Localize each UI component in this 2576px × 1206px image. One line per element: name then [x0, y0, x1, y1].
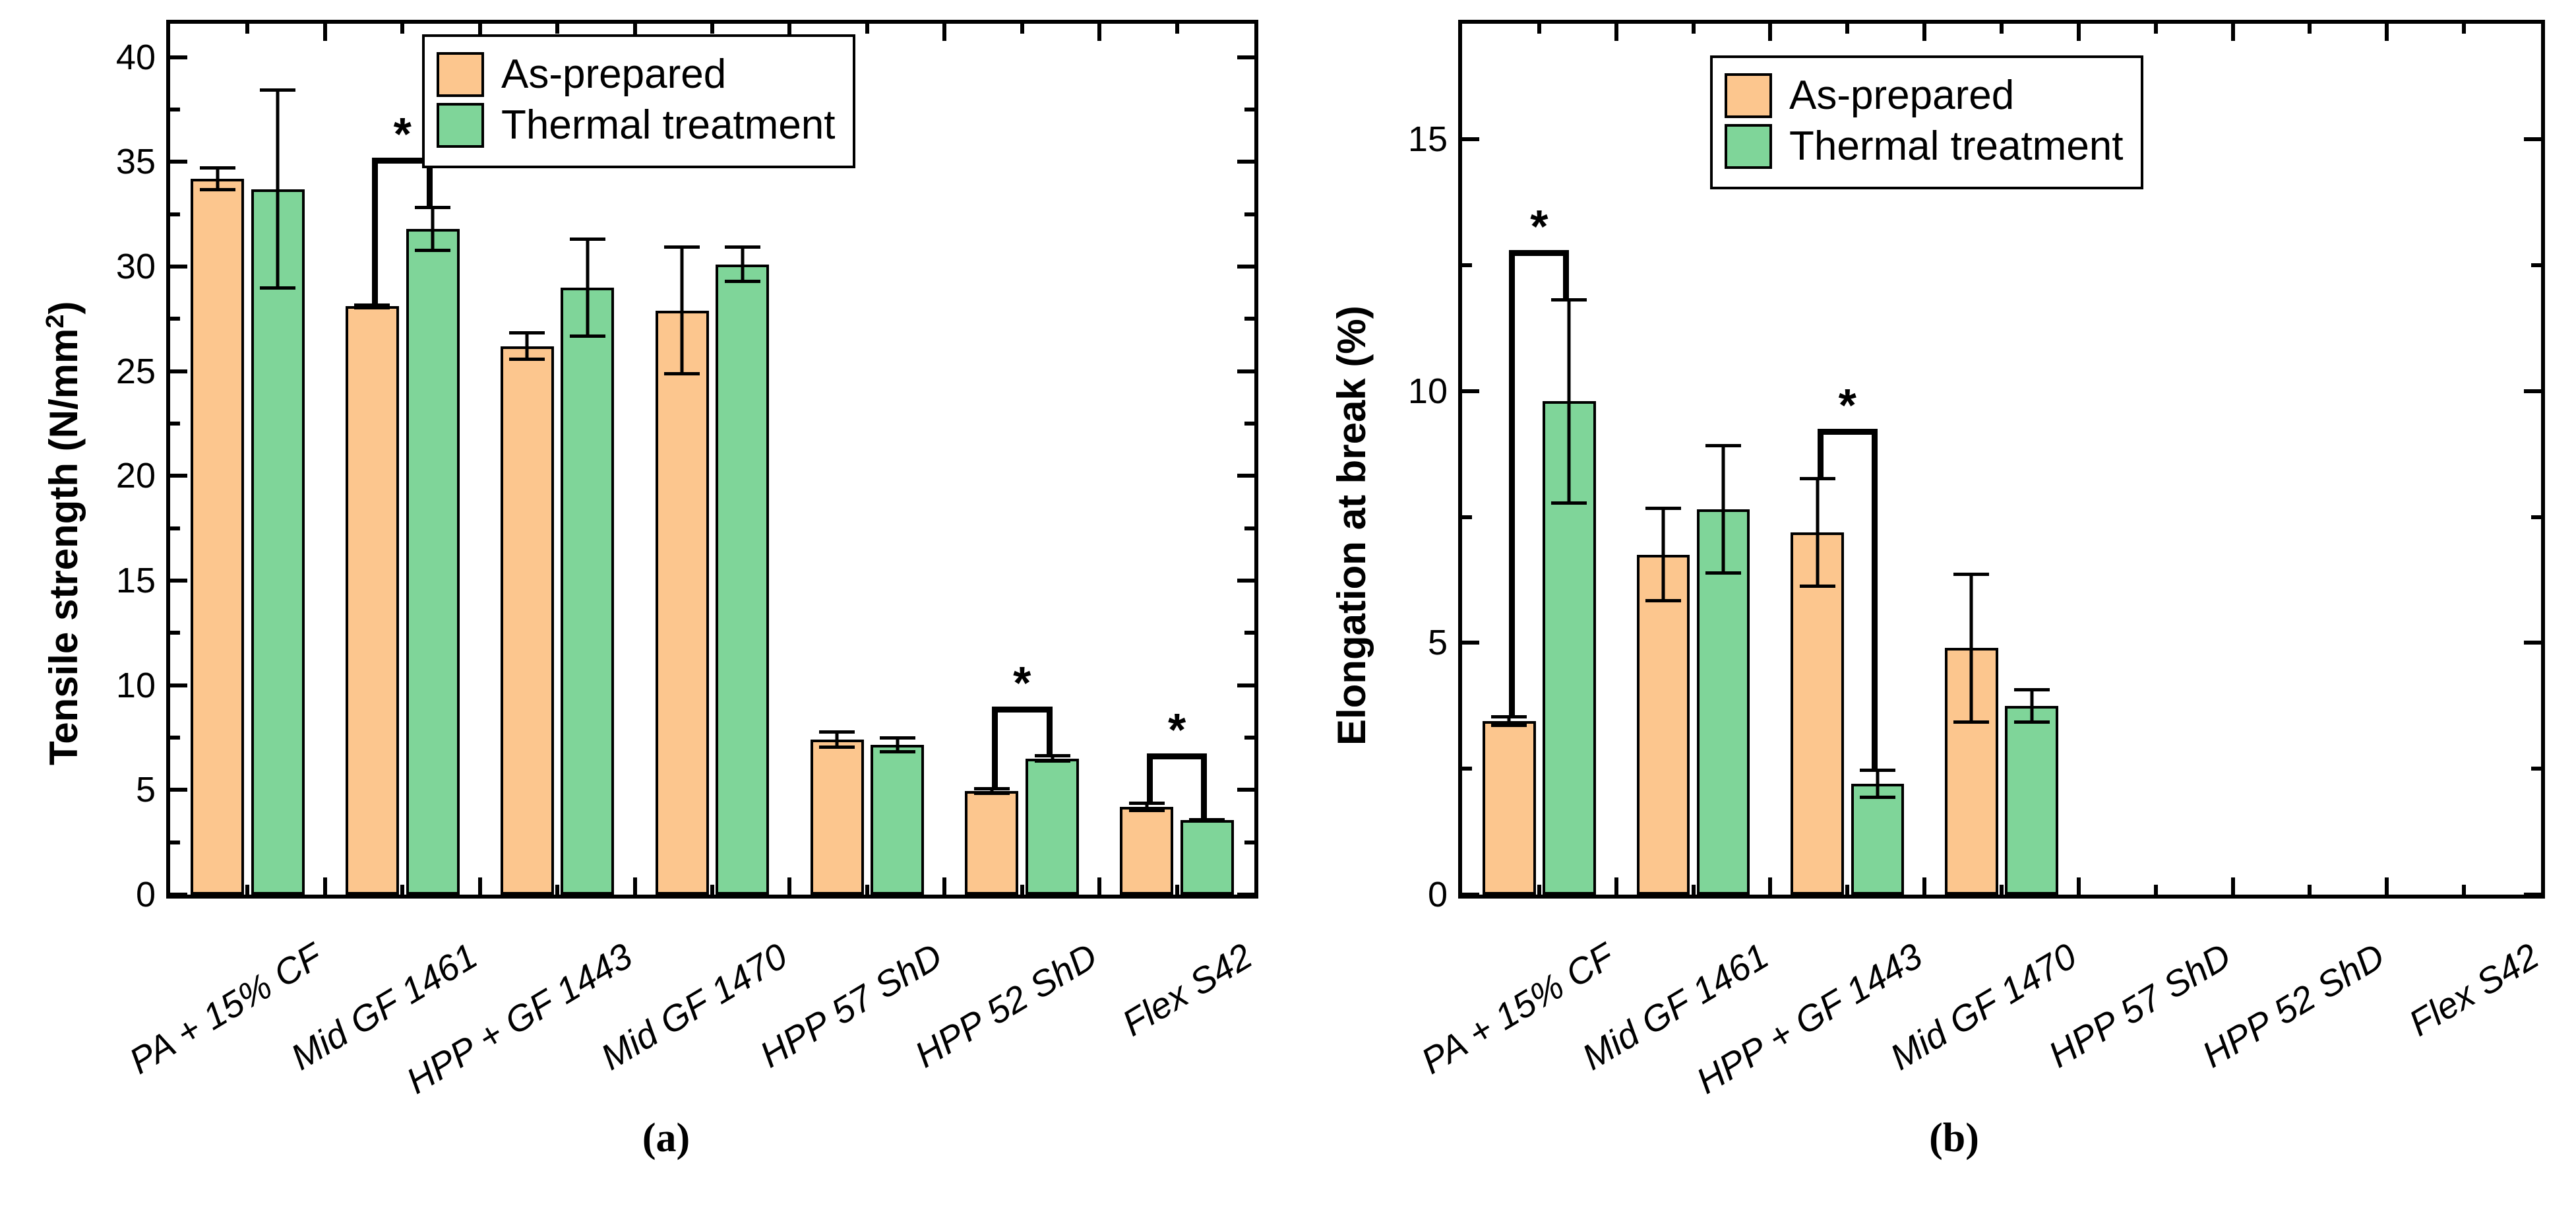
legend-item-as-prepared: As-prepared — [437, 52, 836, 97]
x-minor-tick-top — [1020, 24, 1024, 34]
bar-as-prepared — [1637, 555, 1690, 895]
x-minor-tick-bottom — [2308, 885, 2312, 895]
error-bar-stem — [681, 245, 684, 375]
significance-star: * — [1839, 387, 1856, 424]
y-tick-label: 0 — [77, 874, 156, 915]
x-minor-tick-top — [2000, 24, 2004, 34]
panel-b: Elongation at break (%) ** (b) As-prepar… — [1288, 0, 2576, 1206]
x-major-tick-top — [2385, 24, 2389, 41]
x-major-tick-bottom — [2231, 877, 2235, 895]
significance-bracket-right-leg — [1872, 429, 1878, 769]
y-tick-label: 40 — [77, 37, 156, 78]
y-major-tick-right — [1237, 683, 1254, 687]
x-category-label: Mid GF 1470 — [1802, 935, 2083, 1127]
y-tick-label: 25 — [77, 351, 156, 392]
error-bar — [1945, 573, 1998, 724]
y-major-tick-right — [1237, 265, 1254, 269]
y-minor-tick — [170, 631, 180, 635]
y-major-tick — [1462, 641, 1479, 645]
x-major-tick-bottom — [323, 877, 327, 895]
y-major-tick-right — [1237, 160, 1254, 164]
y-major-tick — [1462, 893, 1479, 897]
y-tick-label: 15 — [77, 560, 156, 601]
legend-a: As-prepared Thermal treatment — [422, 34, 855, 168]
error-bar-stem — [1722, 444, 1725, 575]
x-category-label: Mid GF 1470 — [512, 935, 794, 1127]
error-bar-cap-upper — [819, 730, 855, 734]
significance-bracket-right-leg — [1047, 707, 1053, 755]
x-minor-tick-top — [1845, 24, 1849, 34]
error-bar-cap-upper — [725, 245, 760, 249]
y-minor-tick — [170, 526, 180, 530]
panel-caption-b: (b) — [1855, 1115, 2053, 1162]
significance-bracket-right-leg — [1201, 753, 1207, 818]
error-bar-cap-lower — [260, 286, 295, 290]
error-bar-cap-upper — [974, 787, 1010, 790]
significance-star: * — [1168, 711, 1186, 748]
x-minor-tick-bottom — [1175, 885, 1179, 895]
x-major-tick-top — [942, 24, 946, 41]
y-minor-tick-right — [2531, 515, 2541, 519]
error-bar-cap-lower — [1705, 571, 1741, 575]
y-minor-tick-right — [2531, 767, 2541, 771]
x-major-tick-bottom — [2077, 877, 2081, 895]
error-bar-stem — [741, 245, 744, 283]
x-minor-tick-bottom — [2462, 885, 2466, 895]
error-bar-cap-lower — [974, 792, 1010, 795]
error-bar-cap-lower — [1645, 599, 1681, 602]
y-major-tick-right — [1237, 369, 1254, 373]
bar-thermal-treatment — [716, 265, 769, 895]
error-bar-stem — [586, 238, 589, 338]
error-bar-cap-upper — [1645, 507, 1681, 510]
error-bar — [871, 736, 924, 753]
error-bar — [656, 245, 708, 375]
bar-as-prepared — [656, 311, 709, 895]
error-bar-cap-lower — [1953, 720, 1989, 724]
bar-thermal-treatment — [251, 189, 305, 895]
error-bar-cap-upper — [2014, 688, 2050, 691]
x-minor-tick-bottom — [1845, 885, 1849, 895]
error-bar-stem — [276, 88, 280, 290]
y-tick-label: 5 — [77, 769, 156, 810]
y-minor-tick-right — [2531, 263, 2541, 267]
legend-label-as-prepared: As-prepared — [501, 54, 726, 95]
significance-star: * — [1013, 664, 1031, 701]
y-major-tick-right — [1237, 474, 1254, 478]
error-bar-cap-upper — [570, 238, 605, 241]
bar-thermal-treatment — [1851, 784, 1905, 895]
y-tick-label: 5 — [1368, 622, 1448, 663]
legend-label-thermal-treatment: Thermal treatment — [501, 105, 836, 146]
legend-item-thermal-treatment: Thermal treatment — [437, 103, 836, 148]
legend-swatch-as-prepared — [437, 52, 484, 97]
y-major-tick — [170, 893, 187, 897]
x-major-tick-bottom — [1768, 877, 1772, 895]
y-major-tick — [170, 55, 187, 59]
x-category-label: HPP 52 ShD — [822, 935, 1104, 1127]
x-category-label: Flex S42 — [2264, 935, 2546, 1127]
y-minor-tick-right — [1244, 526, 1254, 530]
x-minor-tick-bottom — [2154, 885, 2158, 895]
x-minor-tick-bottom — [400, 885, 404, 895]
x-major-tick-bottom — [1922, 877, 1926, 895]
error-bar-stem — [2030, 688, 2033, 723]
x-minor-tick-bottom — [2000, 885, 2004, 895]
x-minor-tick-bottom — [245, 885, 249, 895]
x-category-label: HPP 57 ShD — [1956, 935, 2238, 1127]
legend-swatch-thermal-treatment — [437, 103, 484, 148]
legend-label-thermal-treatment: Thermal treatment — [1789, 126, 2124, 167]
error-bar-cap-lower — [1491, 724, 1527, 727]
x-minor-tick-top — [2308, 24, 2312, 34]
y-major-tick — [1462, 389, 1479, 393]
significance-bracket: * — [992, 707, 1053, 787]
bar-as-prepared — [1483, 721, 1536, 895]
x-minor-tick-top — [245, 24, 249, 34]
significance-star: * — [394, 115, 412, 152]
x-major-tick-bottom — [942, 877, 946, 895]
y-major-tick-right — [1237, 893, 1254, 897]
x-major-tick-top — [2231, 24, 2235, 41]
error-bar-cap-upper — [880, 736, 915, 740]
x-major-tick-top — [1097, 24, 1101, 41]
x-category-label: HPP + GF 1443 — [1648, 935, 1930, 1127]
x-minor-tick-bottom — [1537, 885, 1541, 895]
error-bar — [346, 303, 398, 310]
x-minor-tick-bottom — [1692, 885, 1696, 895]
y-major-tick — [170, 788, 187, 792]
y-axis-title-b: Elongation at break (%) — [1329, 305, 1374, 746]
error-bar — [2006, 688, 2058, 723]
y-major-tick — [170, 160, 187, 164]
y-major-tick-right — [2524, 641, 2541, 645]
x-minor-tick-top — [1692, 24, 1696, 34]
x-category-label: PA + 15% CF — [48, 935, 330, 1127]
x-minor-tick-bottom — [865, 885, 869, 895]
error-bar-cap-upper — [260, 88, 295, 92]
y-minor-tick-right — [1244, 841, 1254, 844]
x-minor-tick-bottom — [555, 885, 559, 895]
significance-bracket-left-leg — [992, 707, 998, 787]
legend-item-as-prepared: As-prepared — [1725, 73, 2124, 118]
error-bar-cap-lower — [2014, 720, 2050, 724]
y-minor-tick — [170, 841, 180, 844]
error-bar-cap-lower — [880, 750, 915, 753]
error-bar-cap-upper — [200, 166, 235, 170]
x-minor-tick-top — [710, 24, 714, 34]
error-bar-stem — [1876, 769, 1879, 799]
y-minor-tick — [170, 108, 180, 111]
error-bar-cap-lower — [819, 746, 855, 749]
error-bar — [1637, 507, 1690, 602]
x-major-tick-top — [1768, 24, 1772, 41]
error-bar — [1181, 818, 1233, 822]
figure-root: Tensile strength (N/mm2) *** (a) As-prep… — [0, 0, 2576, 1206]
bar-thermal-treatment — [2005, 706, 2058, 895]
error-bar-cap-lower — [200, 188, 235, 191]
significance-bracket-left-leg — [1818, 429, 1824, 477]
y-minor-tick-right — [1244, 631, 1254, 635]
y-minor-tick-right — [1244, 736, 1254, 740]
significance-bracket: * — [372, 158, 433, 303]
error-bar-cap-lower — [509, 358, 545, 361]
error-bar — [966, 787, 1018, 796]
error-bar-cap-lower — [1860, 796, 1895, 799]
error-bar-stem — [526, 331, 529, 360]
y-tick-label: 15 — [1368, 119, 1448, 160]
x-minor-tick-top — [1537, 24, 1541, 34]
y-major-tick — [170, 683, 187, 687]
error-bar — [561, 238, 614, 338]
bar-thermal-treatment — [1181, 820, 1234, 895]
y-major-tick-right — [1237, 579, 1254, 583]
x-major-tick-top — [2077, 24, 2081, 41]
x-category-label: HPP 57 ShD — [667, 935, 949, 1127]
bar-thermal-treatment — [871, 745, 924, 895]
x-category-label: PA + 15% CF — [1339, 935, 1621, 1127]
error-bar — [716, 245, 769, 283]
x-minor-tick-top — [555, 24, 559, 34]
y-major-tick-right — [2524, 389, 2541, 393]
y-minor-tick — [1462, 515, 1472, 519]
error-bar-cap-lower — [1189, 819, 1225, 823]
x-major-tick-bottom — [478, 877, 482, 895]
legend-b: As-prepared Thermal treatment — [1710, 55, 2143, 189]
y-minor-tick-right — [1244, 212, 1254, 216]
x-category-label: Flex S42 — [977, 935, 1259, 1127]
y-minor-tick — [1462, 263, 1472, 267]
y-major-tick — [1462, 137, 1479, 141]
error-bar — [811, 730, 863, 749]
error-bar-cap-upper — [1953, 573, 1989, 576]
y-minor-tick — [170, 422, 180, 426]
bar-thermal-treatment — [561, 288, 614, 895]
significance-bracket-right-leg — [1563, 250, 1569, 298]
significance-bracket: * — [1509, 250, 1569, 714]
bar-as-prepared — [501, 346, 554, 895]
error-bar — [1851, 769, 1904, 799]
significance-bracket-left-leg — [1509, 250, 1515, 714]
y-minor-tick — [1462, 767, 1472, 771]
x-category-label: HPP 52 ShD — [2110, 935, 2392, 1127]
x-minor-tick-top — [400, 24, 404, 34]
error-bar-cap-lower — [725, 280, 760, 283]
y-tick-label: 30 — [77, 246, 156, 287]
y-minor-tick — [170, 317, 180, 321]
y-minor-tick — [170, 212, 180, 216]
error-bar-cap-lower — [570, 334, 605, 338]
y-major-tick — [170, 369, 187, 373]
error-bar — [501, 331, 553, 360]
legend-item-thermal-treatment: Thermal treatment — [1725, 124, 2124, 169]
bar-thermal-treatment — [406, 229, 460, 895]
y-minor-tick — [170, 736, 180, 740]
error-bar-cap-upper — [1705, 444, 1741, 447]
bar-as-prepared — [191, 179, 244, 895]
bar-as-prepared — [811, 740, 864, 895]
x-major-tick-bottom — [633, 877, 637, 895]
x-major-tick-bottom — [1097, 877, 1101, 895]
panel-caption-a: (a) — [567, 1115, 765, 1162]
y-major-tick-right — [2524, 893, 2541, 897]
error-bar-cap-upper — [1860, 769, 1895, 772]
y-minor-tick-right — [1244, 108, 1254, 111]
x-major-tick-bottom — [2385, 877, 2389, 895]
legend-swatch-as-prepared — [1725, 73, 1772, 118]
y-tick-label: 35 — [77, 141, 156, 182]
x-major-tick-top — [1614, 24, 1618, 41]
legend-label-as-prepared: As-prepared — [1789, 75, 2014, 116]
x-minor-tick-top — [2154, 24, 2158, 34]
legend-swatch-thermal-treatment — [1725, 124, 1772, 169]
bar-as-prepared — [346, 306, 399, 895]
y-tick-label: 20 — [77, 455, 156, 496]
error-bar — [251, 88, 304, 290]
error-bar-cap-upper — [1491, 715, 1527, 718]
y-major-tick-right — [2524, 137, 2541, 141]
y-major-tick-right — [1237, 55, 1254, 59]
y-major-tick — [170, 579, 187, 583]
x-minor-tick-top — [2462, 24, 2466, 34]
significance-bracket-left-leg — [1147, 753, 1153, 802]
x-major-tick-top — [323, 24, 327, 41]
significance-bracket-left-leg — [372, 158, 378, 303]
x-minor-tick-top — [1175, 24, 1179, 34]
error-bar-cap-upper — [664, 245, 700, 249]
x-minor-tick-bottom — [1020, 885, 1024, 895]
x-category-label: HPP + GF 1443 — [357, 935, 639, 1127]
error-bar-stem — [1970, 573, 1973, 724]
significance-bracket: * — [1147, 753, 1208, 818]
y-major-tick — [170, 265, 187, 269]
error-bar — [191, 166, 244, 191]
x-category-label: Mid GF 1461 — [1494, 935, 1775, 1127]
error-bar-cap-lower — [664, 372, 700, 375]
y-major-tick-right — [1237, 788, 1254, 792]
x-minor-tick-bottom — [710, 885, 714, 895]
y-major-tick — [170, 474, 187, 478]
error-bar-cap-lower — [354, 306, 390, 309]
x-major-tick-bottom — [787, 877, 791, 895]
x-category-label: Mid GF 1461 — [203, 935, 485, 1127]
x-major-tick-bottom — [1614, 877, 1618, 895]
significance-bracket: * — [1818, 429, 1878, 769]
error-bar-stem — [1661, 507, 1665, 602]
y-tick-label: 0 — [1368, 874, 1448, 915]
y-tick-label: 10 — [1368, 371, 1448, 412]
bar-as-prepared — [1120, 807, 1173, 895]
error-bar — [1697, 444, 1750, 575]
x-major-tick-top — [1922, 24, 1926, 41]
x-minor-tick-top — [865, 24, 869, 34]
y-minor-tick-right — [1244, 317, 1254, 321]
panel-a: Tensile strength (N/mm2) *** (a) As-prep… — [0, 0, 1288, 1206]
error-bar-cap-upper — [509, 331, 545, 334]
error-bar — [1483, 715, 1535, 727]
y-minor-tick-right — [1244, 422, 1254, 426]
y-tick-label: 10 — [77, 665, 156, 706]
bar-as-prepared — [965, 791, 1018, 895]
significance-star: * — [1530, 208, 1548, 245]
